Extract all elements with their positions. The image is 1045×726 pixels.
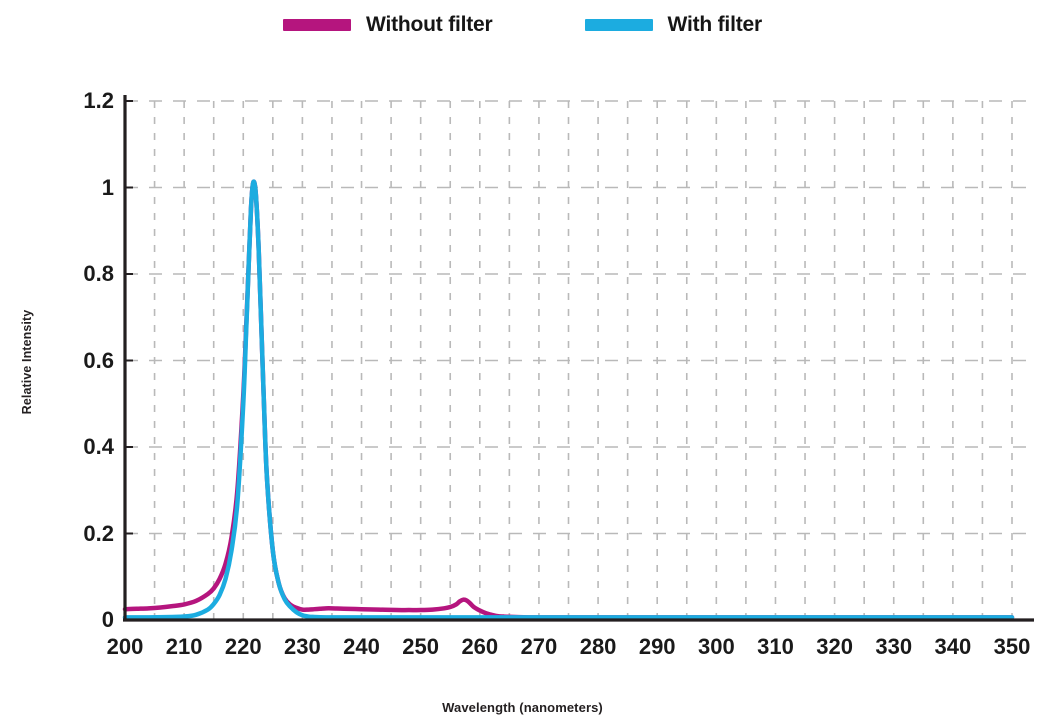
x-axis-tick-labels: 2002102202302402502602702802903003103203… bbox=[0, 0, 1045, 726]
x-tick-label: 270 bbox=[521, 634, 558, 660]
x-tick-label: 200 bbox=[107, 634, 144, 660]
x-tick-label: 330 bbox=[875, 634, 912, 660]
x-axis-title: Wavelength (nanometers) bbox=[0, 700, 1045, 715]
x-tick-label: 350 bbox=[994, 634, 1031, 660]
x-tick-label: 220 bbox=[225, 634, 262, 660]
x-tick-label: 260 bbox=[461, 634, 498, 660]
x-tick-label: 250 bbox=[402, 634, 439, 660]
x-tick-label: 210 bbox=[166, 634, 203, 660]
x-tick-label: 290 bbox=[639, 634, 676, 660]
x-tick-label: 320 bbox=[816, 634, 853, 660]
y-axis-title: Relative Intensity bbox=[20, 262, 34, 462]
x-tick-label: 240 bbox=[343, 634, 380, 660]
x-tick-label: 300 bbox=[698, 634, 735, 660]
x-tick-label: 310 bbox=[757, 634, 794, 660]
x-tick-label: 230 bbox=[284, 634, 321, 660]
chart-plot-area: 00.20.40.60.811.2 2002102202302402502602… bbox=[0, 0, 1045, 726]
x-tick-label: 280 bbox=[580, 634, 617, 660]
x-tick-label: 340 bbox=[935, 634, 972, 660]
